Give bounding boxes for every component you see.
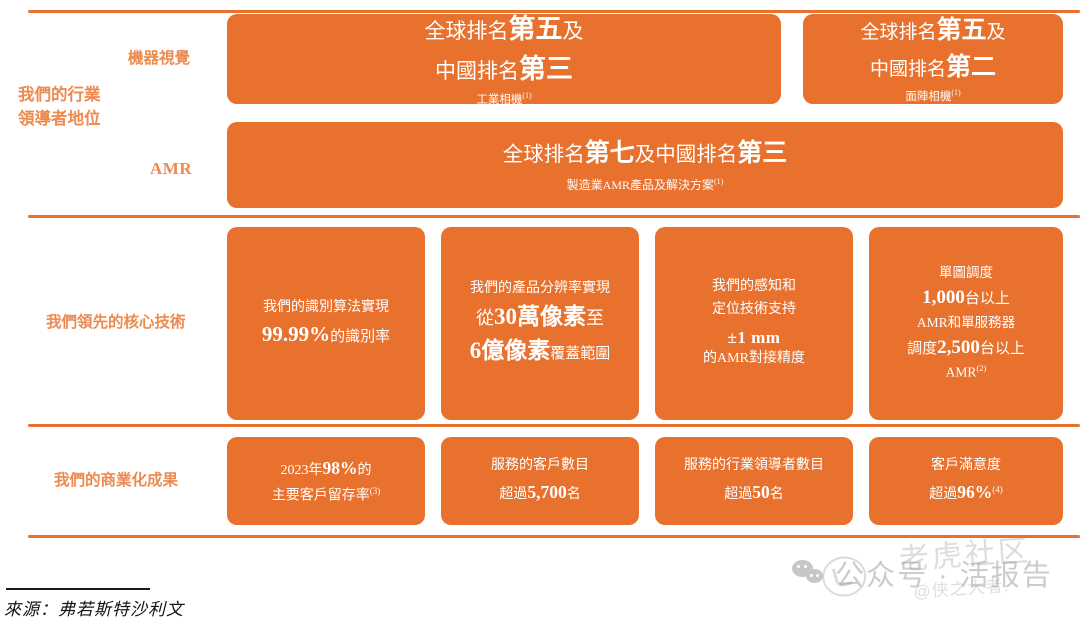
- card-tech4-line4: 調度2,500台以上: [907, 334, 1025, 363]
- card-tech4-line1: 單圖調度: [939, 263, 993, 284]
- divider-bottom: [28, 535, 1080, 538]
- row-label-amr: AMR: [150, 157, 192, 182]
- phone-circle-icon: [821, 555, 868, 598]
- card-tech3-line4: 的AMR對接精度: [703, 348, 805, 370]
- card-tech2-line3: 6億像素覆蓋範圍: [470, 334, 611, 369]
- wechat-watermark-text: 公众号 · 活报告: [835, 552, 1053, 594]
- card-recognition-accuracy: 我們的識別算法實現 99.99%的識別率: [227, 227, 425, 420]
- card-amr-line1: 全球排名第七及中國排名第三: [503, 136, 788, 172]
- card-amr-ranking: 全球排名第七及中國排名第三 製造業AMR產品及解決方案(1): [227, 122, 1063, 208]
- row-label-industry-leadership: 我們的行業 領導者地位: [18, 84, 218, 132]
- row-label-industry-line1: 我們的行業: [18, 84, 218, 108]
- card-com1-line1: 2023年98%的: [281, 454, 372, 484]
- card-machine-vision-industrial-camera: 全球排名第五及 中國排名第三 工業相機(1): [227, 14, 781, 104]
- card-tech3-line1: 我們的感知和: [712, 276, 796, 298]
- overlay-watermark-handle: @侠之大者.: [912, 569, 1033, 602]
- card-customer-retention: 2023年98%的 主要客戶留存率(3): [227, 437, 425, 525]
- source-rule: [6, 588, 150, 590]
- card-com1-line2: 主要客戶留存率(3): [272, 484, 381, 508]
- card-mv2-line1: 全球排名第五及: [860, 13, 1005, 49]
- card-tech2-line2: 從30萬像素至: [476, 300, 604, 335]
- card-tech4-line3: AMR和單服務器: [917, 313, 1015, 334]
- card-tech3-line2: 定位技術支持: [712, 299, 796, 321]
- card-mv2-line2: 中國排名第二: [870, 50, 996, 86]
- card-amr-footnote: 製造業AMR產品及解決方案(1): [567, 176, 724, 194]
- card-customers-served: 服務的客戶數目 超過5,700名: [441, 437, 639, 525]
- card-industry-leaders-served: 服務的行業領導者數目 超過50名: [655, 437, 853, 525]
- card-tech2-line1: 我們的產品分辨率實現: [470, 278, 610, 300]
- row-label-commercialization: 我們的商業化成果: [54, 470, 178, 492]
- wechat-icon: [792, 560, 826, 586]
- row-label-core-technology: 我們領先的核心技術: [46, 312, 186, 334]
- card-docking-accuracy: 我們的感知和 定位技術支持 ±1 mm 的AMR對接精度: [655, 227, 853, 420]
- card-machine-vision-area-camera: 全球排名第五及 中國排名第二 面陣相機(1): [803, 14, 1063, 104]
- overlay-watermark: 老虎社区 @侠之大者.: [898, 535, 1034, 603]
- card-com2-line1: 服務的客戶數目: [491, 454, 589, 478]
- divider-after-industry: [28, 215, 1080, 218]
- wechat-watermark: 公众号 · 活报告: [792, 552, 1053, 594]
- divider-after-core-tech: [28, 424, 1080, 427]
- row-label-machine-vision: 機器視覺: [128, 48, 190, 70]
- overlay-watermark-text: 老虎社区: [898, 535, 1032, 576]
- card-amr-scheduling: 單圖調度 1,000台以上 AMR和單服務器 調度2,500台以上 AMR(2): [869, 227, 1063, 420]
- card-tech1-line2: 99.99%的識別率: [262, 319, 390, 351]
- card-tech4-line5: AMR(2): [946, 362, 987, 383]
- card-com2-line2: 超過5,700名: [499, 478, 580, 508]
- card-mv2-footnote: 面陣相機(1): [905, 87, 960, 105]
- source-text: 來源：弗若斯特沙利文: [4, 595, 184, 620]
- card-customer-satisfaction: 客戶滿意度 超過96%(4): [869, 437, 1063, 525]
- card-resolution-range: 我們的產品分辨率實現 從30萬像素至 6億像素覆蓋範圍: [441, 227, 639, 420]
- slide-canvas: 我們的行業 領導者地位 機器視覺 AMR 我們領先的核心技術 我們的商業化成果 …: [0, 0, 1080, 627]
- card-tech4-line2: 1,000台以上: [922, 284, 1010, 313]
- card-mv1-line2: 中國排名第三: [435, 50, 573, 89]
- card-com4-line2: 超過96%(4): [929, 478, 1003, 508]
- card-com4-line1: 客戶滿意度: [931, 454, 1001, 478]
- card-com3-line1: 服務的行業領導者數目: [684, 454, 824, 478]
- row-label-industry-line2: 領導者地位: [18, 108, 218, 132]
- card-com3-line2: 超過50名: [724, 478, 784, 508]
- card-tech3-value: ±1 mm: [728, 328, 781, 348]
- card-tech1-line1: 我們的識別算法實現: [263, 297, 389, 319]
- card-mv1-footnote: 工業相機(1): [476, 90, 531, 108]
- card-mv1-line1: 全球排名第五及: [425, 10, 584, 49]
